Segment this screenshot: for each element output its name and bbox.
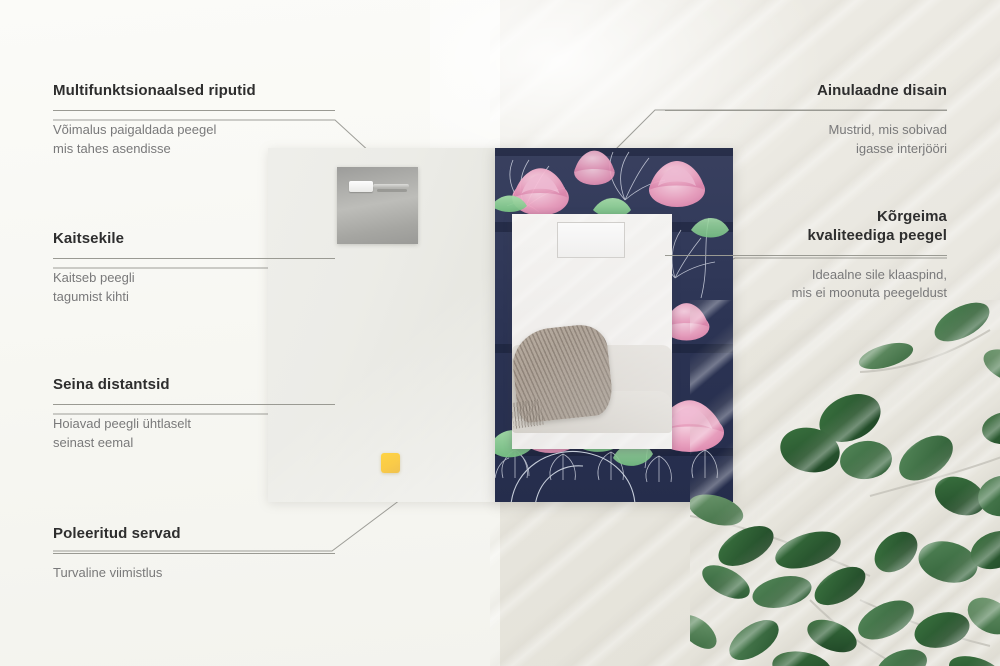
feature-top-quality: Kõrgeima kvaliteediga peegel Ideaalne si… bbox=[665, 208, 947, 303]
feature-film-title: Kaitsekile bbox=[53, 230, 335, 249]
feature-design-description: Mustrid, mis sobivad igasse interjööri bbox=[665, 121, 947, 159]
reflection-sheen bbox=[512, 214, 672, 449]
feature-hangers-title: Multifunktsionaalsed riputid bbox=[53, 82, 335, 101]
feature-quality-title: Kõrgeima kvaliteediga peegel bbox=[665, 208, 947, 246]
wire-hoop-lineart bbox=[505, 438, 655, 502]
feature-design-rule bbox=[665, 110, 947, 111]
feature-hangers: Multifunktsionaalsed riputid Võimalus pa… bbox=[53, 82, 335, 158]
hanger-bar-shadow bbox=[377, 189, 407, 192]
wall-spacer-icon bbox=[381, 453, 400, 473]
feature-film-rule bbox=[53, 258, 335, 259]
feature-quality-rule bbox=[665, 255, 947, 256]
feature-edges-description: Turvaline viimistlus bbox=[53, 564, 335, 583]
feature-protective-film: Kaitsekile Kaitseb peegli tagumist kihti bbox=[53, 230, 335, 306]
feature-design-title: Ainulaadne disain bbox=[665, 82, 947, 101]
feature-edges-rule bbox=[53, 553, 335, 554]
feature-hangers-description: Võimalus paigaldada peegel mis tahes ase… bbox=[53, 121, 335, 159]
hanger-bar bbox=[373, 184, 409, 188]
feature-spacers-title: Seina distantsid bbox=[53, 376, 335, 395]
infographic-stage: Multifunktsionaalsed riputid Võimalus pa… bbox=[0, 0, 1000, 666]
plant-foliage bbox=[690, 300, 1000, 666]
hanger-bracket-icon bbox=[337, 167, 418, 244]
hanger-keyhole-slot bbox=[349, 181, 373, 192]
feature-edges-title: Poleeritud servad bbox=[53, 525, 335, 544]
feature-quality-description: Ideaalne sile klaaspind, mis ei moonuta … bbox=[665, 266, 947, 304]
feature-spacers-description: Hoiavad peegli ühtlaselt seinast eemal bbox=[53, 415, 335, 453]
mirror-reflection-inset bbox=[512, 214, 672, 449]
product-mirror bbox=[268, 148, 733, 504]
feature-unique-design: Ainulaadne disain Mustrid, mis sobivad i… bbox=[665, 82, 947, 158]
feature-film-description: Kaitseb peegli tagumist kihti bbox=[53, 269, 335, 307]
feature-hangers-rule bbox=[53, 110, 335, 111]
feature-polished-edges: Poleeritud servad Turvaline viimistlus bbox=[53, 525, 335, 583]
feature-wall-spacers: Seina distantsid Hoiavad peegli ühtlasel… bbox=[53, 376, 335, 452]
feature-spacers-rule bbox=[53, 404, 335, 405]
